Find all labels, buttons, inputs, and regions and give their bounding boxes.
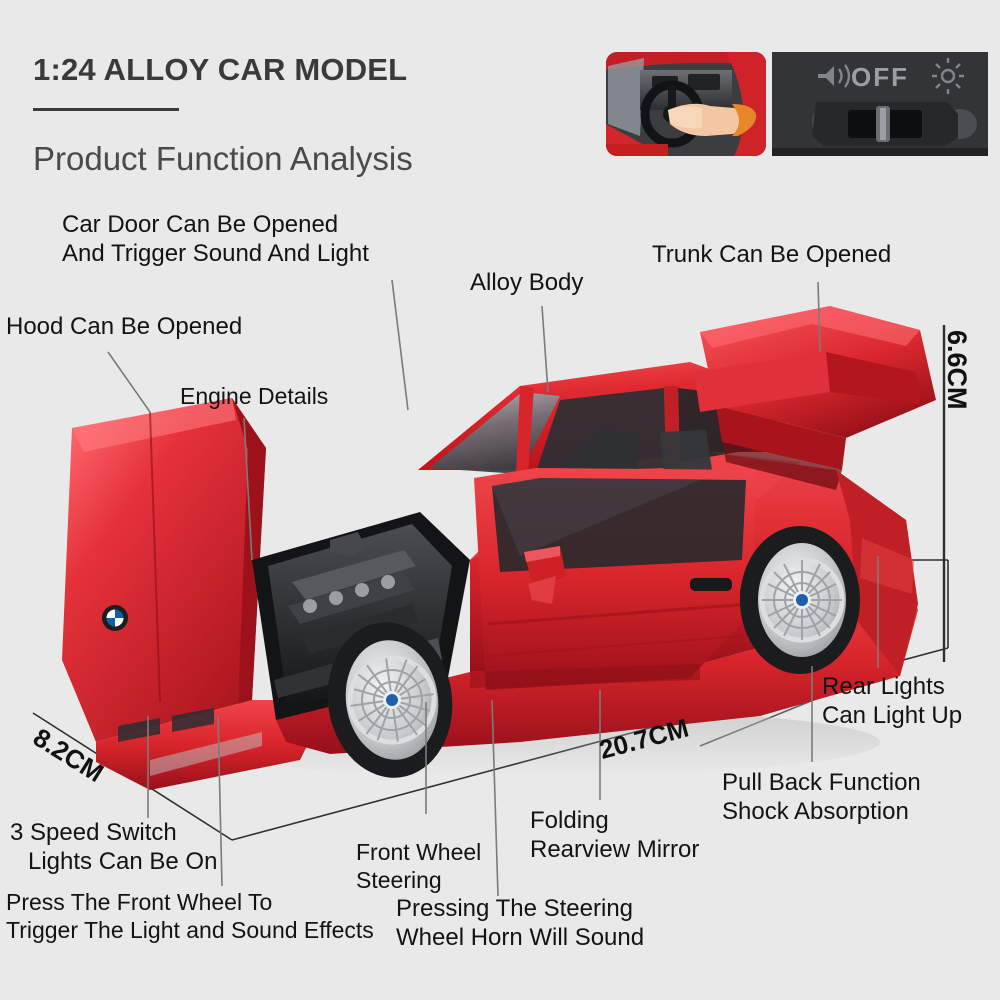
callout-car-door: Car Door Can Be Opened And Trigger Sound…	[62, 210, 369, 268]
callout-rear-lights: Rear Lights Can Light Up	[822, 672, 962, 730]
car-model	[62, 306, 936, 790]
callout-three-speed-line2: Lights Can Be On	[10, 847, 217, 876]
callout-car-door-line1: Car Door Can Be Opened	[62, 210, 369, 239]
callout-pull-back: Pull Back Function Shock Absorption	[722, 768, 921, 826]
open-trunk	[694, 306, 936, 490]
callout-front-wheel-line2: Steering	[356, 866, 481, 894]
callout-mirror-line2: Rearview Mirror	[530, 835, 699, 864]
callout-front-wheel-line1: Front Wheel	[356, 838, 481, 866]
callout-hood-line1: Hood Can Be Opened	[6, 312, 242, 341]
rear-wheel	[740, 526, 860, 674]
leader-alloy-body	[542, 306, 548, 392]
open-hood	[62, 398, 266, 742]
callout-trunk-line1: Trunk Can Be Opened	[652, 240, 891, 269]
callout-pull-back-line1: Pull Back Function	[722, 768, 921, 797]
callout-rear-lights-line2: Can Light Up	[822, 701, 962, 730]
callout-rear-lights-line1: Rear Lights	[822, 672, 962, 701]
callout-press-wheel-line1: Press The Front Wheel To	[6, 888, 374, 916]
callout-alloy-body-line1: Alloy Body	[470, 268, 583, 297]
callout-alloy-body: Alloy Body	[470, 268, 583, 297]
bmw-badge	[102, 605, 128, 631]
callout-three-speed: 3 Speed Switch Lights Can Be On	[10, 818, 217, 876]
dimension-height: 6.6CM	[941, 330, 972, 410]
callout-hood: Hood Can Be Opened	[6, 312, 242, 341]
callout-steering-horn: Pressing The Steering Wheel Horn Will So…	[396, 894, 644, 952]
callout-press-wheel: Press The Front Wheel To Trigger The Lig…	[6, 888, 374, 944]
callout-car-door-line2: And Trigger Sound And Light	[62, 239, 369, 268]
leader-car-door	[392, 280, 408, 410]
callout-engine-line1: Engine Details	[180, 382, 328, 410]
callout-press-wheel-line2: Trigger The Light and Sound Effects	[6, 916, 374, 944]
callout-engine-details: Engine Details	[180, 382, 328, 410]
callout-pull-back-line2: Shock Absorption	[722, 797, 921, 826]
callout-folding-mirror: Folding Rearview Mirror	[530, 806, 699, 864]
callout-trunk: Trunk Can Be Opened	[652, 240, 891, 269]
leader-hood	[108, 352, 150, 412]
infographic-canvas: 1:24 ALLOY CAR MODEL Product Function An…	[0, 0, 1000, 1000]
callout-horn-line2: Wheel Horn Will Sound	[396, 923, 644, 952]
door-handle	[690, 578, 732, 591]
callout-three-speed-line1: 3 Speed Switch	[10, 818, 217, 847]
callout-horn-line1: Pressing The Steering	[396, 894, 644, 923]
callout-front-wheel: Front Wheel Steering	[356, 838, 481, 894]
callout-mirror-line1: Folding	[530, 806, 699, 835]
